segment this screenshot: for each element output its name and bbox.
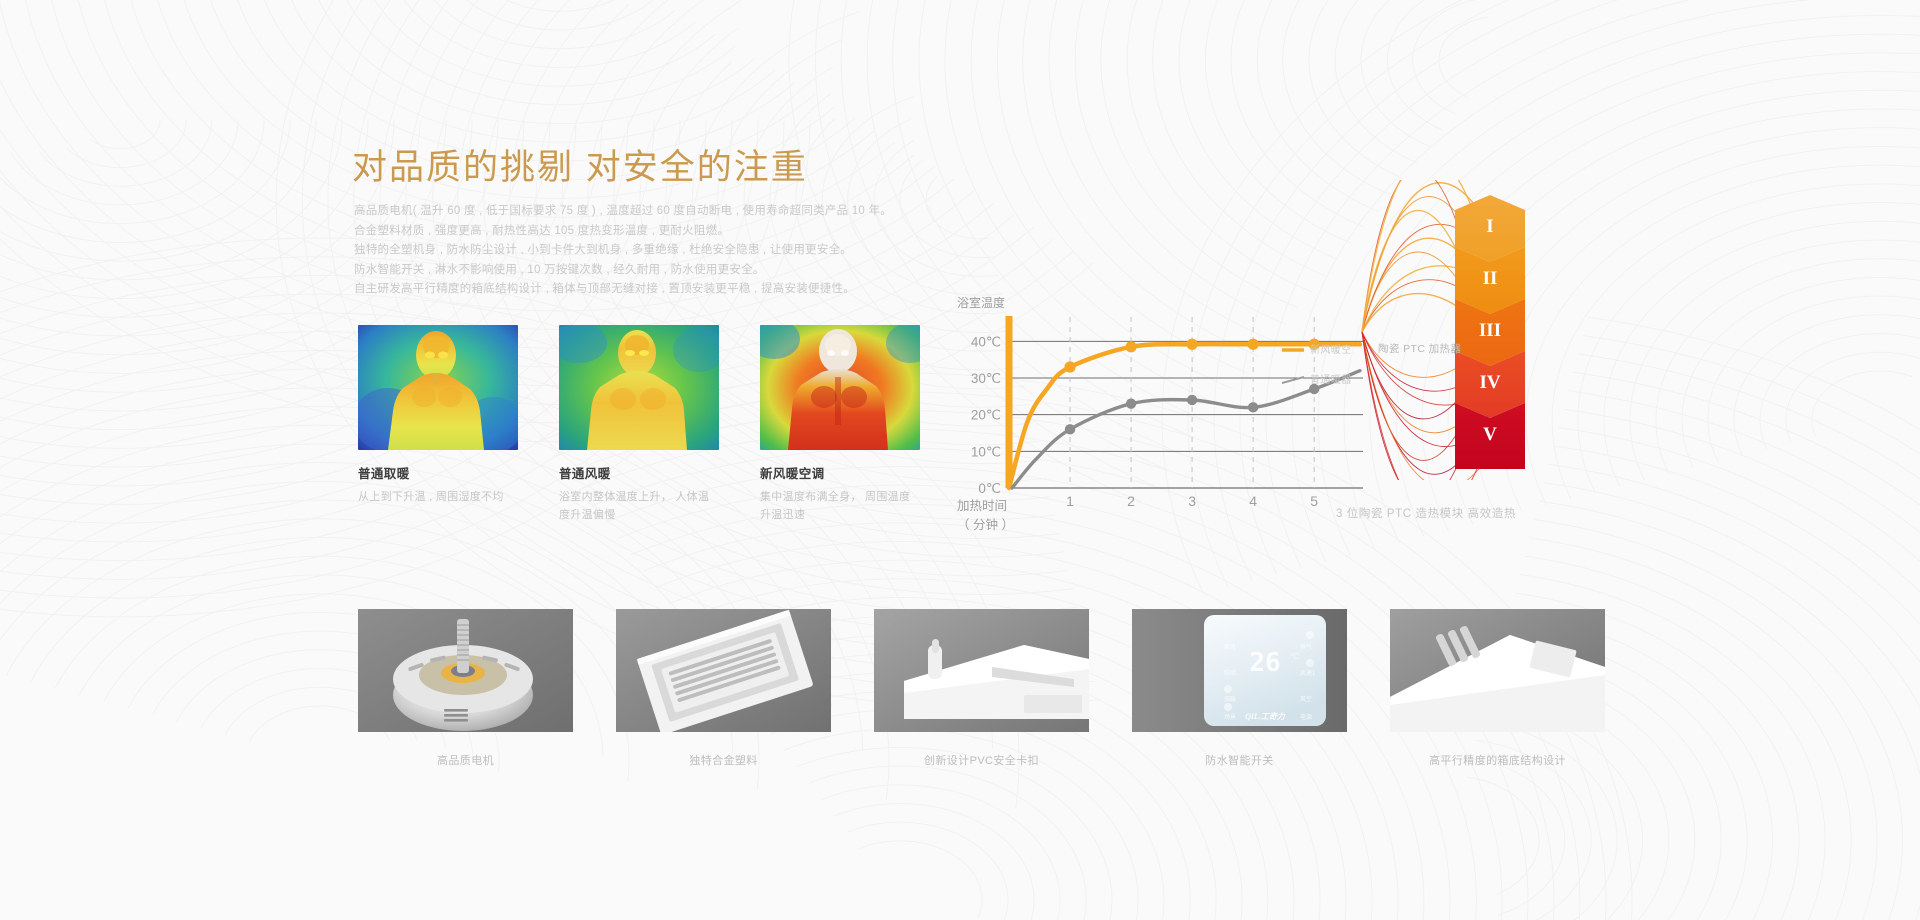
legend-swatch-icon [1282,376,1304,384]
svg-text:风空: 风空 [1300,695,1312,703]
intro-line-2: 合金塑料材质 , 强度更高 , 耐热性高达 105 度热变形温度 , 更耐火阻燃… [354,222,974,242]
ptc-heater-graphic: IIIIIIIVV [1360,180,1610,480]
intro-line-1: 高品质电机( 温升 60 度 , 低于国标要求 75 度 ) , 温度超过 60… [354,202,974,222]
product-card-alloy-plastic[interactable]: 独特合金塑料 [616,609,831,768]
chart-x-axis-title-line1: 加热时间 [957,499,1007,513]
chart-marker-fresh-air [1064,361,1075,372]
product-card-pvc-buckle[interactable]: 创新设计PVC安全卡扣 [874,609,1089,768]
chart-x-tick-label: 1 [1066,493,1074,509]
svg-text:换风: 换风 [1224,643,1236,651]
ptc-caption: 3 位陶瓷 PTC 造热模块 高效造热 [1336,505,1516,521]
chart-x-tick-label: 2 [1127,493,1135,509]
chart-marker-normal-heater [1248,402,1258,412]
thermal-card-normal-heating: 普通取暖 从上到下升温 , 周围湿度不均 [358,325,518,524]
chart-y-tick-label: 30℃ [971,371,1001,386]
intro-paragraph: 高品质电机( 温升 60 度 , 低于国标要求 75 度 ) , 温度超过 60… [354,202,974,300]
ptc-level-numeral: I [1486,216,1493,237]
thermal-card-desc: 从上到下升温 , 周围湿度不均 [358,488,510,506]
photo-high-quality-motor [358,609,573,732]
ptc-level-numeral: IV [1479,372,1500,393]
chart-marker-fresh-air [1187,339,1198,350]
svg-text:电源: 电源 [1300,713,1312,721]
ptc-level-numeral: V [1483,424,1497,445]
chart-x-tick-label: 5 [1310,493,1318,509]
ptc-inline-label: 陶瓷 PTC 加热器 [1378,341,1461,356]
intro-line-4: 防水智能开关 , 淋水不影响使用 , 10 万按键次数 , 经久耐用 , 防水使… [354,261,974,281]
thermal-image-normal-fan-heating [559,325,719,450]
thermal-card-title: 普通取暖 [358,463,518,482]
photo-alloy-plastic [616,609,831,732]
svg-text:风速1: 风速1 [1300,670,1316,677]
svg-text:照明: 照明 [1224,670,1236,677]
intro-line-5: 自主研发高平行精度的箱底结构设计 , 箱体与顶部无缝对接 , 置顶安装更平稳 ,… [354,280,974,300]
thermal-card-fresh-air-warm-ac: 新风暖空调 集中温度布满全身， 周围温度升温迅速 [760,325,920,524]
chart-marker-normal-heater [1126,398,1136,408]
chart-marker-fresh-air [1125,341,1136,352]
svg-text:场景: 场景 [1224,713,1236,721]
chart-y-tick-label: 20℃ [971,408,1001,423]
thermal-card-desc: 集中温度布满全身， 周围温度升温迅速 [760,488,912,524]
svg-text:QIL.工奇力: QIL.工奇力 [1245,712,1286,721]
chart-x-axis-title-line2: （ 分钟 ） [957,517,1014,532]
legend-swatch-icon [1282,346,1304,354]
legend-entry-fresh-air: 新风暖空 [1282,336,1352,366]
product-card-smart-switch[interactable]: 26 ℃ 换风照明 强暖场景 换气风速1 风空电源 QIL.工奇力 防水智能开关 [1132,609,1347,768]
ptc-heat-ray [1362,294,1462,332]
legend-label: 普通暖器 [1310,375,1352,386]
chart-x-tick-label: 4 [1249,493,1257,509]
legend-entry-normal-heater: 普通暖器 [1282,366,1352,396]
thermal-image-fresh-air-warm-ac [760,325,920,450]
thermal-comparison-row: 普通取暖 从上到下升温 , 周围湿度不均 [358,325,920,524]
chart-legend: 新风暖空 普通暖器 [1282,336,1352,396]
product-card-motor[interactable]: 高品质电机 [358,609,573,768]
page-title: 对品质的挑剔 对安全的注重 [352,148,808,188]
chart-y-tick-label: 0℃ [978,481,1001,496]
thermal-card-title: 新风暖空调 [760,463,920,482]
svg-text:换气: 换气 [1300,643,1312,651]
thermal-card-desc: 浴室内整体温度上升， 人体温度升温偏慢 [559,488,711,524]
legend-label: 新风暖空 [1310,345,1352,356]
svg-text:强暖: 强暖 [1224,695,1236,703]
chart-y-axis-title: 浴室温度 [957,295,1005,310]
svg-text:℃: ℃ [1290,652,1299,661]
product-card-base-structure[interactable]: 高平行精度的箱底结构设计 [1390,609,1605,768]
chart-marker-fresh-air [1248,339,1259,350]
thermal-card-title: 普通风暖 [559,463,719,482]
ptc-level-numeral: III [1479,320,1501,341]
product-caption: 高品质电机 [358,752,573,768]
svg-text:26: 26 [1249,648,1280,678]
product-caption: 高平行精度的箱底结构设计 [1390,752,1605,768]
photo-waterproof-smart-switch: 26 ℃ 换风照明 强暖场景 换气风速1 风空电源 QIL.工奇力 [1132,609,1347,732]
product-caption: 独特合金塑料 [616,752,831,768]
product-feature-row: 高品质电机 [358,609,1605,768]
product-caption: 创新设计PVC安全卡扣 [874,752,1089,768]
photo-pvc-safety-buckle [874,609,1089,732]
intro-line-3: 独特的全塑机身 , 防水防尘设计 , 小到卡件大到机身 , 多重绝缘 , 杜绝安… [354,241,974,261]
chart-marker-normal-heater [1187,395,1197,405]
photo-parallel-base-structure [1390,609,1605,732]
thermal-image-normal-heating [358,325,518,450]
thermal-card-normal-fan-heating: 普通风暖 浴室内整体温度上升， 人体温度升温偏慢 [559,325,719,524]
chart-x-tick-label: 3 [1188,493,1196,509]
chart-marker-normal-heater [1065,424,1075,434]
chart-y-tick-label: 40℃ [971,334,1001,349]
chart-y-tick-label: 10℃ [971,444,1001,459]
product-caption: 防水智能开关 [1132,752,1347,768]
temperature-chart: 浴室温度0℃10℃20℃30℃40℃12345加热时间（ 分钟 ） [955,293,1375,533]
ptc-level-numeral: II [1483,268,1498,289]
